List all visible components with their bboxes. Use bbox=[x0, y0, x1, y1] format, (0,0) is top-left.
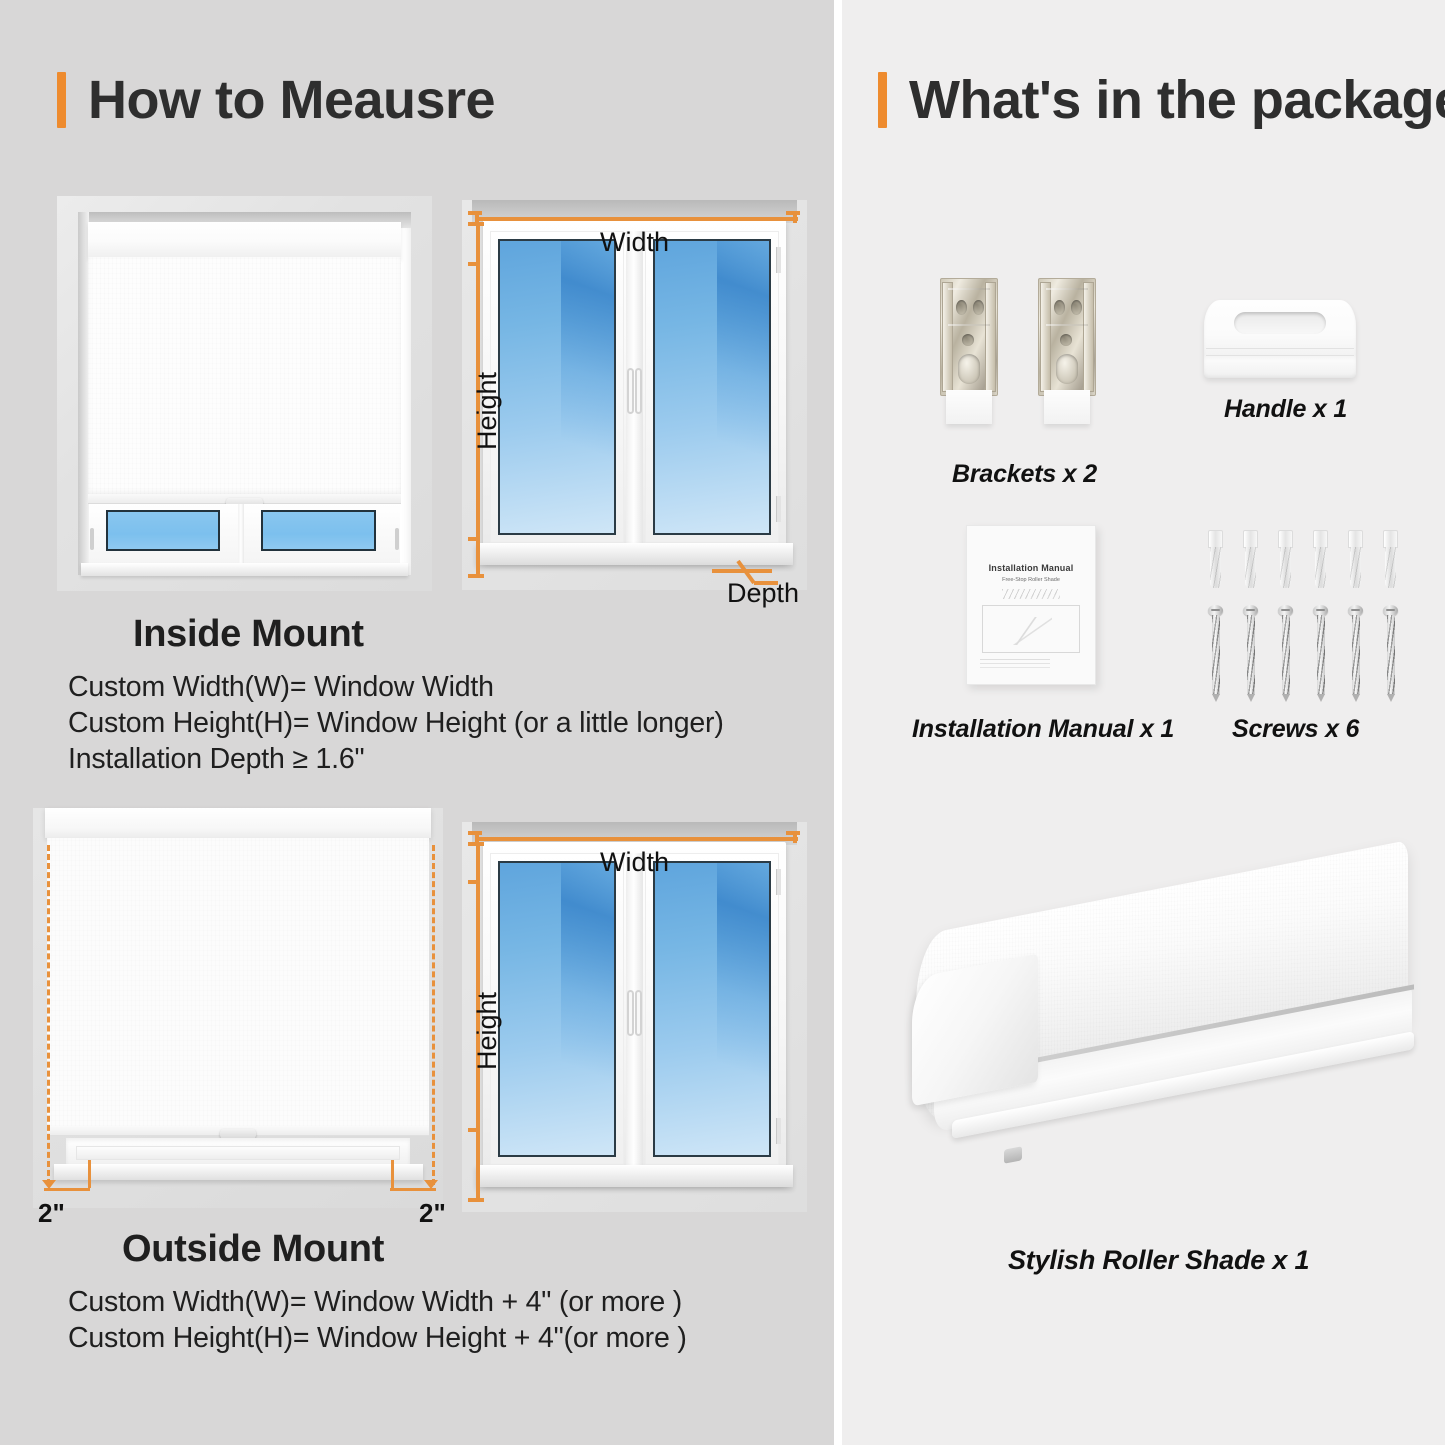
package-title: What's in the package bbox=[909, 73, 1445, 127]
how-to-measure-panel: How to Meausre bbox=[0, 0, 834, 1445]
roller-shade-icon bbox=[894, 880, 1414, 1210]
outside-mount-window-diagram bbox=[462, 822, 807, 1212]
wall-anchor-icon bbox=[1277, 530, 1294, 588]
inside-mount-title: Inside Mount bbox=[133, 613, 364, 656]
brackets-label: Brackets x 2 bbox=[952, 460, 1097, 489]
package-heading: What's in the package bbox=[878, 72, 1445, 128]
height-label-outside: Height bbox=[472, 992, 503, 1070]
inside-mount-spec-3: Installation Depth ≥ 1.6" bbox=[68, 743, 364, 776]
screw-icon bbox=[1348, 605, 1363, 701]
width-marker-line-outside bbox=[476, 837, 798, 841]
shade-fabric-outside bbox=[47, 838, 428, 1126]
inside-mount-shade-image bbox=[57, 196, 432, 591]
manual-icon: Installation Manual Free-Stop Roller Sha… bbox=[966, 525, 1096, 685]
depth-label-inside: Depth bbox=[727, 578, 799, 609]
overhang-guide-right bbox=[432, 845, 435, 1185]
wall-anchor-icon bbox=[1207, 530, 1224, 588]
outside-mount-title: Outside Mount bbox=[122, 1228, 384, 1271]
shade-cassette bbox=[88, 222, 401, 260]
roller-shade-label: Stylish Roller Shade x 1 bbox=[1008, 1245, 1309, 1276]
height-label-inside: Height bbox=[472, 372, 503, 450]
accent-bar-icon bbox=[57, 72, 66, 128]
bracket-icon bbox=[940, 278, 998, 428]
handle-label: Handle x 1 bbox=[1224, 395, 1347, 424]
inside-mount-window-diagram bbox=[462, 200, 807, 590]
outside-mount-spec-2: Custom Height(H)= Window Height + 4"(or … bbox=[68, 1322, 687, 1355]
width-label-outside: Width bbox=[600, 847, 669, 878]
inside-mount-spec-1: Custom Width(W)= Window Width bbox=[68, 671, 494, 704]
manual-cover-title: Installation Manual bbox=[976, 563, 1086, 573]
width-label-inside: Width bbox=[600, 227, 669, 258]
manual-cover-subtitle: Free-Stop Roller Shade bbox=[976, 577, 1086, 583]
wall-anchor-icon bbox=[1312, 530, 1329, 588]
overhang-label-left: 2" bbox=[38, 1198, 65, 1229]
outside-mount-spec-1: Custom Width(W)= Window Width + 4" (or m… bbox=[68, 1286, 682, 1319]
screw-icon bbox=[1313, 605, 1328, 701]
screws-label: Screws x 6 bbox=[1232, 715, 1359, 744]
outside-mount-shade-image bbox=[33, 808, 443, 1208]
handle-icon bbox=[1204, 300, 1356, 378]
screw-icon bbox=[1278, 605, 1293, 701]
panel-divider bbox=[834, 0, 842, 1445]
wall-anchor-icon bbox=[1242, 530, 1259, 588]
package-contents-panel: What's in the package bbox=[842, 0, 1445, 1445]
wall-anchor-icon bbox=[1347, 530, 1364, 588]
screw-icon bbox=[1243, 605, 1258, 701]
how-to-measure-heading: How to Meausre bbox=[57, 72, 495, 128]
shade-cassette-outside bbox=[45, 808, 430, 838]
screw-icon bbox=[1208, 605, 1223, 701]
accent-bar-icon bbox=[878, 72, 887, 128]
screw-icon bbox=[1383, 605, 1398, 701]
how-to-measure-title: How to Meausre bbox=[88, 73, 495, 127]
overhang-guide-left bbox=[47, 845, 50, 1185]
wall-anchor-icon bbox=[1382, 530, 1399, 588]
bracket-icon bbox=[1038, 278, 1096, 428]
inside-mount-spec-2: Custom Height(H)= Window Height (or a li… bbox=[68, 707, 724, 740]
infographic-page: How to Meausre bbox=[0, 0, 1445, 1445]
overhang-label-right: 2" bbox=[419, 1198, 446, 1229]
width-marker-line bbox=[476, 217, 798, 221]
manual-label: Installation Manual x 1 bbox=[912, 715, 1174, 744]
shade-fabric bbox=[88, 257, 401, 494]
